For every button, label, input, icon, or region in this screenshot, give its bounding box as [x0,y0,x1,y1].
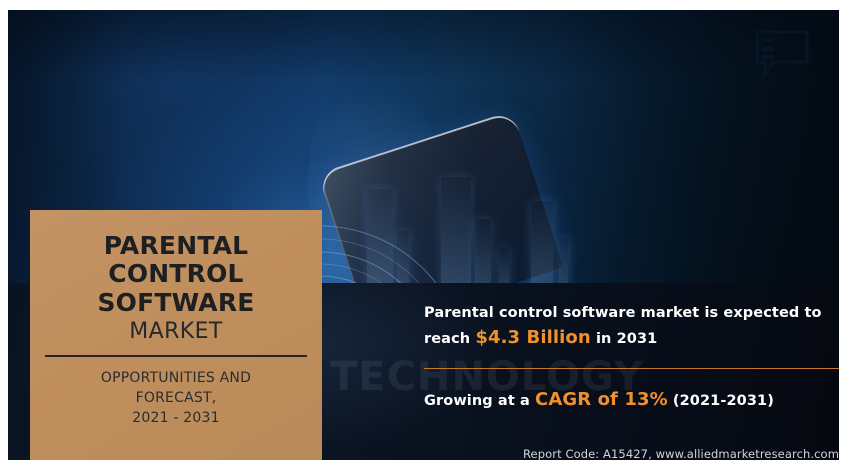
headline-stat: Parental control software market is expe… [424,302,839,351]
title-line-2: CONTROL [44,260,308,288]
title-market-word: MARKET [44,319,308,345]
title-line-3: SOFTWARE [44,289,308,317]
cagr-text-after: (2021-2031) [668,393,774,409]
subtitle-line-1: OPPORTUNITIES AND [44,369,308,389]
market-report-banner: TECHNOLOGY PARENTAL CONTROL SOFTWARE MAR… [8,10,839,460]
cagr-value: CAGR of 13% [535,389,668,410]
title-line-1: PARENTAL [44,232,308,260]
subtitle-line-2: FORECAST, [44,389,308,409]
stats-column: Parental control software market is expe… [424,302,839,414]
title-subtitle: OPPORTUNITIES AND FORECAST, 2021 - 2031 [44,369,308,429]
title-divider [45,355,307,357]
title-card: PARENTAL CONTROL SOFTWARE MARKET OPPORTU… [30,210,322,460]
report-code-note: Report Code: A15427, www.alliedmarketres… [424,447,839,460]
stats-divider [424,368,839,369]
headline-value: $4.3 Billion [475,327,590,348]
background-top-shade [8,10,839,80]
headline-text-after: in 2031 [591,331,658,347]
page-title: PARENTAL CONTROL SOFTWARE [44,232,308,317]
cagr-text-before: Growing at a [424,393,535,409]
allied-market-research-logo-icon [753,28,811,78]
subtitle-line-3: 2021 - 2031 [44,409,308,429]
cagr-stat: Growing at a CAGR of 13% (2021-2031) [424,386,839,413]
